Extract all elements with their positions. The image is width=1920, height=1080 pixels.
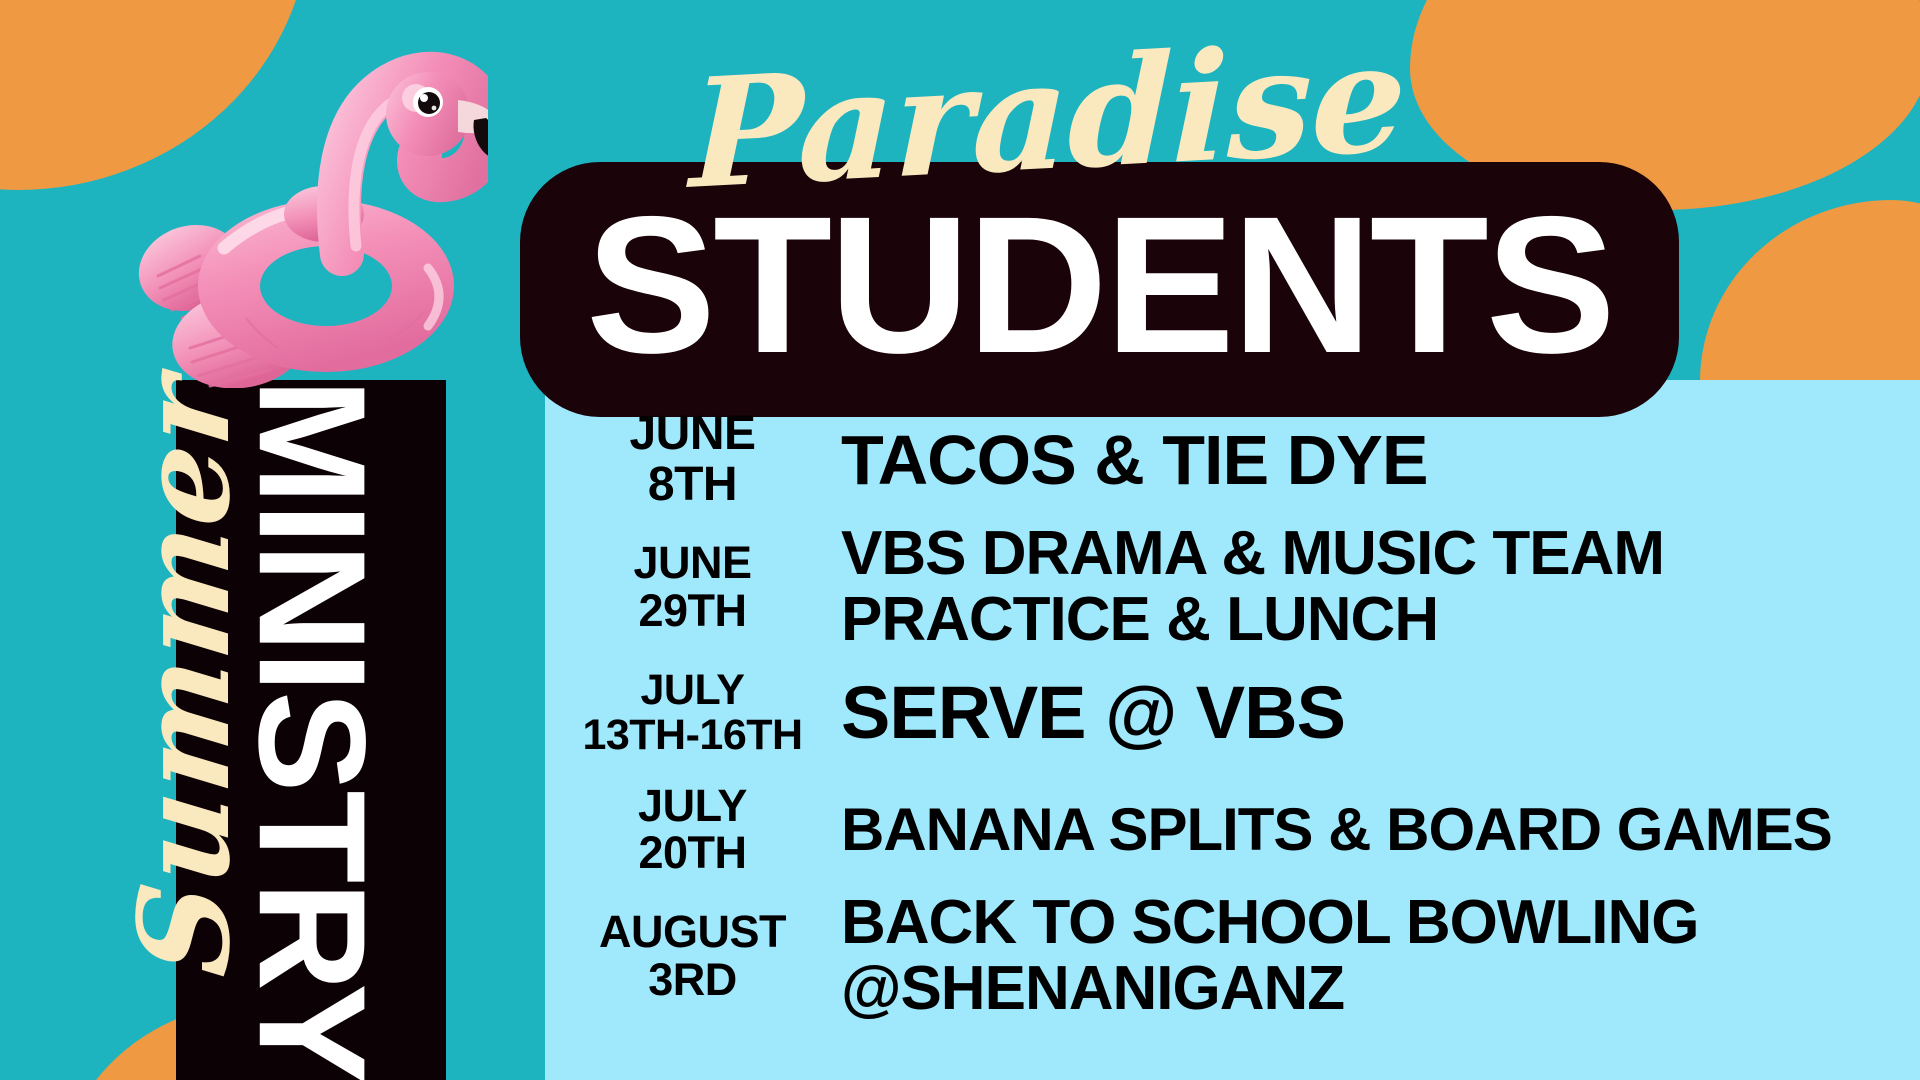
event-schedule-list: JUNE 8TH TACOS & TIE DYE JUNE 29TH VBS D…	[560, 405, 1890, 1028]
date-line-1: JULY	[560, 782, 825, 830]
date-line-2: 29TH	[560, 587, 825, 635]
flamingo-pool-float-icon	[128, 18, 488, 388]
schedule-date: JULY 20TH	[560, 782, 825, 877]
schedule-row: AUGUST 3RD BACK TO SCHOOL BOWLING @SHENA…	[560, 890, 1890, 1021]
date-line-2: 8TH	[560, 460, 825, 511]
date-line-1: JULY	[560, 668, 825, 714]
event-line-1: VBS DRAMA & MUSIC TEAM	[841, 521, 1890, 587]
schedule-date: JUNE 29TH	[560, 539, 825, 634]
schedule-event: BANANA SPLITS & BOARD GAMES	[825, 798, 1890, 862]
paradise-label: Paradise	[689, 9, 1407, 223]
date-line-1: JUNE	[560, 539, 825, 587]
schedule-event: BACK TO SCHOOL BOWLING @SHENANIGANZ	[825, 890, 1890, 1021]
schedule-row: JULY 13TH-16TH SERVE @ VBS	[560, 658, 1890, 768]
date-line-2: 3RD	[560, 956, 825, 1004]
schedule-event: SERVE @ VBS	[825, 674, 1890, 752]
event-line-1: BACK TO SCHOOL BOWLING	[841, 890, 1890, 956]
event-line-1: TACOS & TIE DYE	[841, 423, 1890, 497]
schedule-row: JUNE 29TH VBS DRAMA & MUSIC TEAM PRACTIC…	[560, 521, 1890, 652]
event-line-2: @SHENANIGANZ	[841, 956, 1890, 1022]
event-line-1: BANANA SPLITS & BOARD GAMES	[841, 798, 1890, 862]
date-line-2: 13TH-16TH	[560, 713, 825, 759]
schedule-event: VBS DRAMA & MUSIC TEAM PRACTICE & LUNCH	[825, 521, 1890, 652]
schedule-date: JUNE 8TH	[560, 409, 825, 511]
schedule-row: JUNE 8TH TACOS & TIE DYE	[560, 405, 1890, 515]
schedule-event: TACOS & TIE DYE	[825, 423, 1890, 497]
date-line-1: JUNE	[560, 409, 825, 460]
schedule-date: AUGUST 3RD	[560, 908, 825, 1003]
date-line-1: AUGUST	[560, 908, 825, 956]
event-line-2: PRACTICE & LUNCH	[841, 587, 1890, 653]
event-line-1: SERVE @ VBS	[841, 674, 1890, 752]
schedule-row: JULY 20TH BANANA SPLITS & BOARD GAMES	[560, 774, 1890, 884]
poster-canvas: MINISTRY Summer Paradise STUDENTS	[0, 0, 1920, 1080]
paradise-script: Paradise	[686, 9, 1410, 222]
summer-label: Summer	[112, 369, 258, 981]
schedule-date: JULY 13TH-16TH	[560, 668, 825, 759]
date-line-2: 20TH	[560, 829, 825, 877]
vertical-summer-script: Summer	[105, 395, 265, 955]
